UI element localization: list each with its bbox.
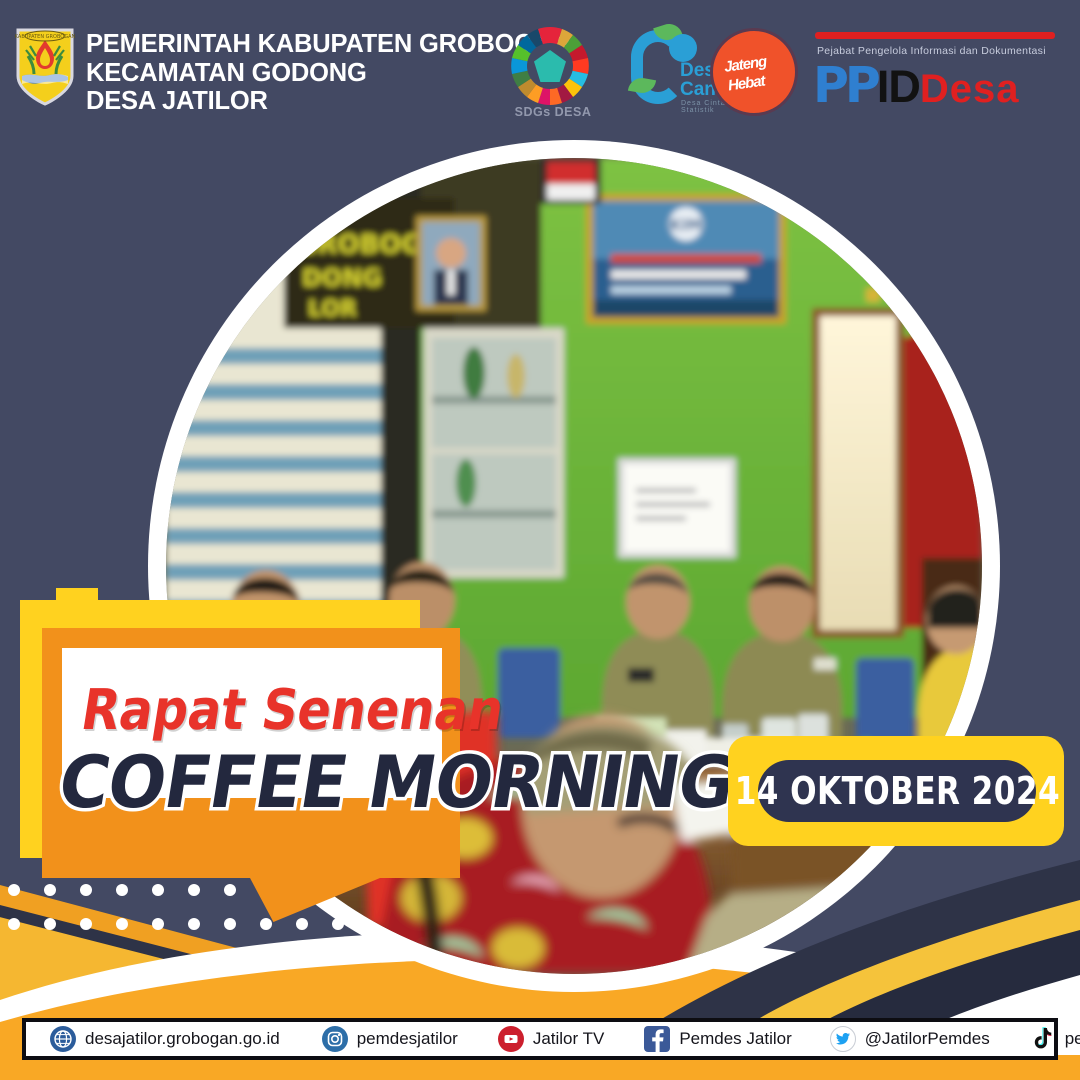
twitter-icon <box>830 1026 856 1052</box>
ppid-subtitle: Pejabat Pengelola Informasi dan Dokument… <box>817 45 1046 57</box>
ppid-desa-text: Desa <box>920 67 1020 111</box>
svg-text:LOR: LOR <box>308 297 357 322</box>
footer-label-website: desajatilor.grobogan.go.id <box>85 1029 280 1049</box>
svg-text:KABUPATEN GROBOGAN: KABUPATEN GROBOGAN <box>15 34 76 40</box>
youtube-icon <box>498 1026 524 1052</box>
sdgs-desa-logo-icon: SDGs DESA <box>505 25 601 121</box>
footer-label-facebook: Pemdes Jatilor <box>679 1029 791 1049</box>
footer-label-youtube: Jatilor TV <box>533 1029 605 1049</box>
footer-item-twitter[interactable]: @JatilorPemdes <box>830 1026 990 1052</box>
banner-subtitle: Rapat Senenan <box>77 678 509 743</box>
instagram-icon <box>322 1026 348 1052</box>
header-line-1: PEMERINTAH KABUPATEN GROBOGAN <box>86 30 570 59</box>
footer-item-instagram[interactable]: pemdesjatilor <box>322 1026 458 1052</box>
ppid-pp-text: PP <box>813 57 877 114</box>
footer-label-tiktok: pemdes_jatilor <box>1065 1029 1080 1049</box>
svg-text:KIM: KIM <box>670 216 702 234</box>
tiktok-icon <box>1030 1026 1056 1052</box>
ppid-id-text: ID <box>877 61 920 112</box>
date-pill: 14 OKTOBER 2024 <box>758 760 1036 822</box>
ppid-red-bar <box>815 32 1055 39</box>
banner-title: COFFEE MORNING <box>53 740 740 824</box>
grobogan-regency-emblem-icon: KABUPATEN GROBOGAN <box>14 26 76 106</box>
header-line-2: KECAMATAN GODONG <box>86 59 570 88</box>
facebook-icon <box>644 1026 670 1052</box>
footer-item-youtube[interactable]: Jatilor TV <box>498 1026 605 1052</box>
footer-label-instagram: pemdesjatilor <box>357 1029 458 1049</box>
partner-logos: SDGs DESA Desa Cantik Desa Cinta Statist… <box>505 22 1065 122</box>
date-badge: 14 OKTOBER 2024 <box>728 736 1064 846</box>
globe-icon <box>50 1026 76 1052</box>
date-text: 14 OKTOBER 2024 <box>734 769 1059 813</box>
jateng-hebat-logo-icon: Jateng Hebat <box>710 28 804 118</box>
footer-label-twitter: @JatilorPemdes <box>865 1029 990 1049</box>
svg-text:DONG: DONG <box>302 264 382 292</box>
header-bar: KABUPATEN GROBOGAN PEMERINTAH KABUPATEN … <box>0 0 1080 132</box>
social-footer-bar: desajatilor.grobogan.go.id pemdesjatilor… <box>22 1018 1058 1060</box>
sdgs-desa-caption: SDGs DESA <box>505 105 601 119</box>
footer-item-facebook[interactable]: Pemdes Jatilor <box>644 1026 791 1052</box>
poster-canvas: KABUPATEN GROBOGAN PEMERINTAH KABUPATEN … <box>0 0 1080 1080</box>
header-title-block: PEMERINTAH KABUPATEN GROBOGAN KECAMATAN … <box>86 30 570 116</box>
ppid-desa-logo-icon: Pejabat Pengelola Informasi dan Dokument… <box>805 32 1060 114</box>
footer-item-website[interactable]: desajatilor.grobogan.go.id <box>50 1026 280 1052</box>
footer-item-tiktok[interactable]: pemdes_jatilor <box>1030 1026 1080 1052</box>
header-line-3: DESA JATILOR <box>86 87 570 116</box>
